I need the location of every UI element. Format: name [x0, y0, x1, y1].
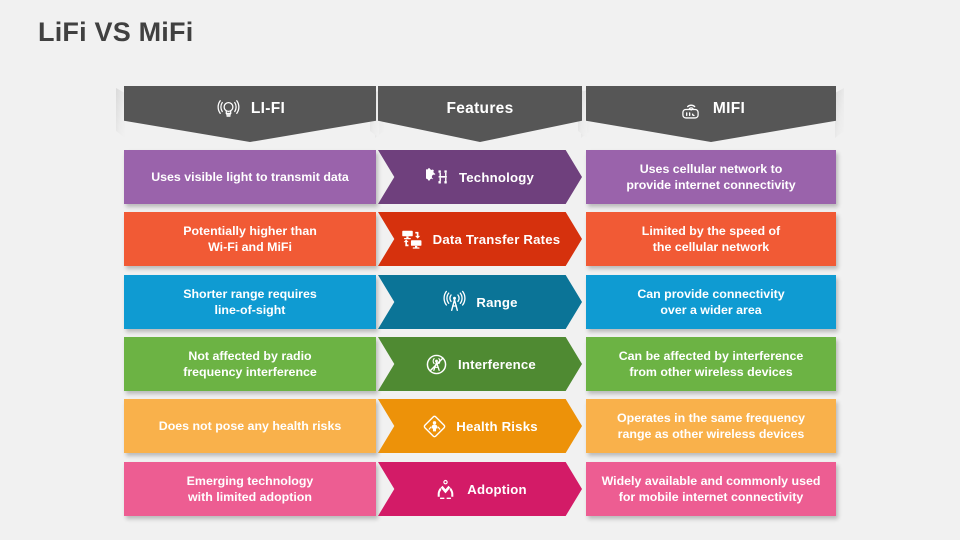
- feature-label-technology: Technology: [459, 170, 534, 185]
- feature-label-interference: Interference: [458, 357, 536, 372]
- mifi-cell-5-line2: for mobile internet connectivity: [602, 489, 821, 505]
- mifi-cell-3-line2: from other wireless devices: [619, 364, 804, 380]
- lifi-cell-1-line2: Wi-Fi and MiFi: [183, 239, 317, 255]
- header-mifi: MIFI: [586, 86, 836, 142]
- feature-cell-adoption: Adoption: [378, 462, 582, 516]
- broadcast-tower-icon: [442, 290, 467, 315]
- lifi-cell-2: Shorter range requires line-of-sight: [183, 286, 317, 318]
- table-row: Shorter range requires line-of-sight: [124, 275, 376, 329]
- lifi-cell-1-line1: Potentially higher than: [183, 223, 317, 239]
- lightbulb-signal-icon: [215, 96, 242, 123]
- mifi-cell-0-line2: provide internet connectivity: [626, 177, 795, 193]
- mifi-cell-5-line1: Widely available and commonly used: [602, 473, 821, 489]
- hands-person-icon: [433, 477, 458, 502]
- mifi-cell-0-line1: Uses cellular network to: [626, 161, 795, 177]
- lifi-cell-4-line1: Does not pose any health risks: [159, 418, 341, 434]
- lifi-cell-5: Emerging technology with limited adoptio…: [187, 473, 314, 505]
- lifi-cell-3: Not affected by radio frequency interfer…: [183, 348, 317, 380]
- lifi-cell-0: Uses visible light to transmit data: [151, 169, 349, 185]
- lifi-cell-3-line1: Not affected by radio: [183, 348, 317, 364]
- mifi-router-icon: [677, 96, 704, 123]
- header-features-label: Features: [446, 100, 513, 118]
- feature-cell-interference: Interference: [378, 337, 582, 391]
- gear-circuit-icon: [426, 165, 450, 189]
- mifi-cell-0: Uses cellular network to provide interne…: [626, 161, 795, 193]
- header-lifi: LI-FI: [124, 86, 376, 142]
- lifi-cell-2-line2: line-of-sight: [183, 302, 317, 318]
- mifi-cell-3: Can be affected by interference from oth…: [619, 348, 804, 380]
- mifi-cell-2: Can provide connectivity over a wider ar…: [637, 286, 784, 318]
- feature-label-data-transfer-rates: Data Transfer Rates: [433, 232, 561, 247]
- table-row: Not affected by radio frequency interfer…: [124, 337, 376, 391]
- table-row: Emerging technology with limited adoptio…: [124, 462, 376, 516]
- table-row: Can be affected by interference from oth…: [586, 337, 836, 391]
- header-mifi-label: MIFI: [713, 100, 745, 118]
- feature-cell-range: Range: [378, 275, 582, 329]
- mifi-cell-1-line1: Limited by the speed of: [642, 223, 780, 239]
- mifi-cell-2-line2: over a wider area: [637, 302, 784, 318]
- table-row: Does not pose any health risks: [124, 399, 376, 453]
- monitors-transfer-icon: [400, 227, 424, 251]
- mifi-cell-1-line2: the cellular network: [642, 239, 780, 255]
- header-lifi-label: LI-FI: [251, 100, 285, 118]
- mifi-cell-5: Widely available and commonly used for m…: [602, 473, 821, 505]
- lifi-cell-2-line1: Shorter range requires: [183, 286, 317, 302]
- feature-label-health-risks: Health Risks: [456, 419, 538, 434]
- feature-label-range: Range: [476, 295, 517, 310]
- page-title: LiFi VS MiFi: [38, 17, 193, 48]
- table-row: Uses visible light to transmit data: [124, 150, 376, 204]
- lifi-cell-4: Does not pose any health risks: [159, 418, 341, 434]
- health-diamond-icon: [422, 414, 447, 439]
- mifi-cell-4: Operates in the same frequency range as …: [617, 410, 805, 442]
- table-row: Uses cellular network to provide interne…: [586, 150, 836, 204]
- feature-cell-technology: Technology: [378, 150, 582, 204]
- table-row: Widely available and commonly used for m…: [586, 462, 836, 516]
- feature-label-adoption: Adoption: [467, 482, 526, 497]
- lifi-cell-1: Potentially higher than Wi-Fi and MiFi: [183, 223, 317, 255]
- mifi-cell-3-line1: Can be affected by interference: [619, 348, 804, 364]
- mifi-cell-4-line1: Operates in the same frequency: [617, 410, 805, 426]
- slide-canvas: LiFi VS MiFi LI-FI Features: [0, 0, 960, 540]
- lifi-cell-0-line1: Uses visible light to transmit data: [151, 169, 349, 185]
- table-row: Operates in the same frequency range as …: [586, 399, 836, 453]
- table-row: Potentially higher than Wi-Fi and MiFi: [124, 212, 376, 266]
- lifi-cell-3-line2: frequency interference: [183, 364, 317, 380]
- no-signal-tower-icon: [424, 352, 449, 377]
- ribbon-fold-right-mifi: [835, 88, 844, 138]
- table-row: Can provide connectivity over a wider ar…: [586, 275, 836, 329]
- mifi-cell-4-line2: range as other wireless devices: [617, 426, 805, 442]
- mifi-cell-2-line1: Can provide connectivity: [637, 286, 784, 302]
- feature-cell-health-risks: Health Risks: [378, 399, 582, 453]
- lifi-cell-5-line1: Emerging technology: [187, 473, 314, 489]
- ribbon-fold-left-lifi: [116, 88, 125, 138]
- header-features: Features: [378, 86, 582, 142]
- feature-cell-data-transfer-rates: Data Transfer Rates: [378, 212, 582, 266]
- mifi-cell-1: Limited by the speed of the cellular net…: [642, 223, 780, 255]
- table-row: Limited by the speed of the cellular net…: [586, 212, 836, 266]
- lifi-cell-5-line2: with limited adoption: [187, 489, 314, 505]
